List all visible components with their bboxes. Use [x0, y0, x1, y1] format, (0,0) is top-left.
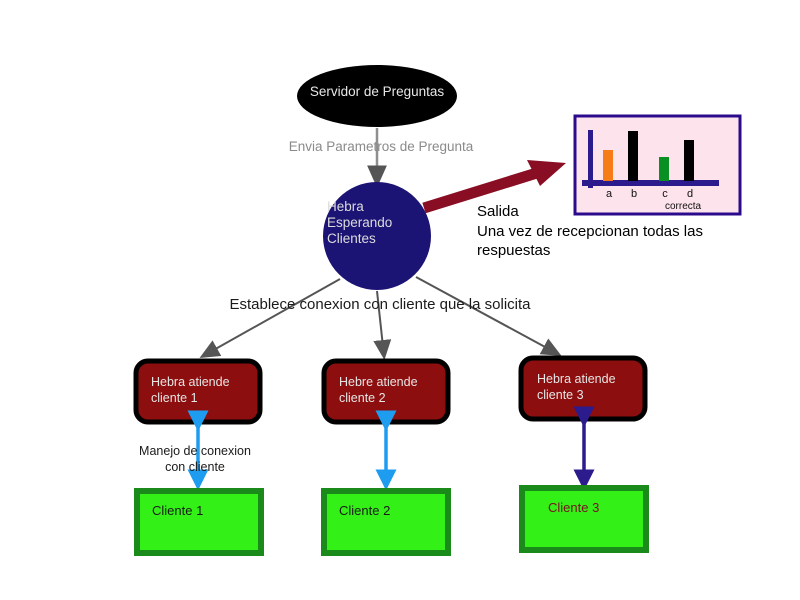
worker-node-2-label: Hebre atiende cliente 2 — [339, 374, 449, 407]
client-node-2-label: Cliente 2 — [339, 503, 449, 518]
chart-bar-b — [628, 131, 638, 181]
server-node-label: Servidor de Preguntas — [297, 84, 457, 100]
chart-y-axis — [588, 130, 593, 188]
chart-bar-d — [684, 140, 694, 181]
chart-bar-a — [603, 150, 613, 181]
client-node-1[interactable] — [137, 491, 261, 553]
diagram-canvas: Servidor de Preguntas Envia Parametros d… — [0, 0, 800, 600]
edge-dispatcher-to-worker-1 — [203, 279, 340, 356]
edge-label-establece-conexion: Establece conexion con cliente que la so… — [180, 296, 580, 314]
chart-annotation-correcta: correcta — [665, 201, 701, 212]
chart-tick-label-b: b — [627, 188, 641, 200]
chart-x-axis — [582, 180, 719, 186]
dispatcher-node-label: Hebra Esperando Clientes — [327, 199, 437, 247]
client-node-2[interactable] — [324, 491, 448, 553]
worker-node-1-label: Hebra atiende cliente 1 — [151, 374, 261, 407]
chart-tick-label-a: a — [602, 188, 616, 200]
edge-label-envia-parametros: Envia Parametros de Pregunta — [276, 139, 486, 155]
edge-dispatcher-to-worker-3 — [416, 277, 558, 354]
client-node-1-label: Cliente 1 — [152, 503, 262, 518]
chart-tick-label-d: d — [683, 188, 697, 200]
chart-tick-label-c: c — [658, 188, 672, 200]
edge-label-manejo-conexion: Manejo de conexion con cliente — [120, 444, 270, 475]
client-node-3-label: Cliente 3 — [548, 500, 658, 515]
worker-node-3-label: Hebra atiende cliente 3 — [537, 371, 647, 404]
client-node-3[interactable] — [522, 488, 646, 550]
edge-output-arrow — [424, 160, 566, 208]
chart-bar-c — [659, 157, 669, 181]
output-annotation-salida: Salida Una vez de recepcionan todas las … — [477, 202, 777, 261]
